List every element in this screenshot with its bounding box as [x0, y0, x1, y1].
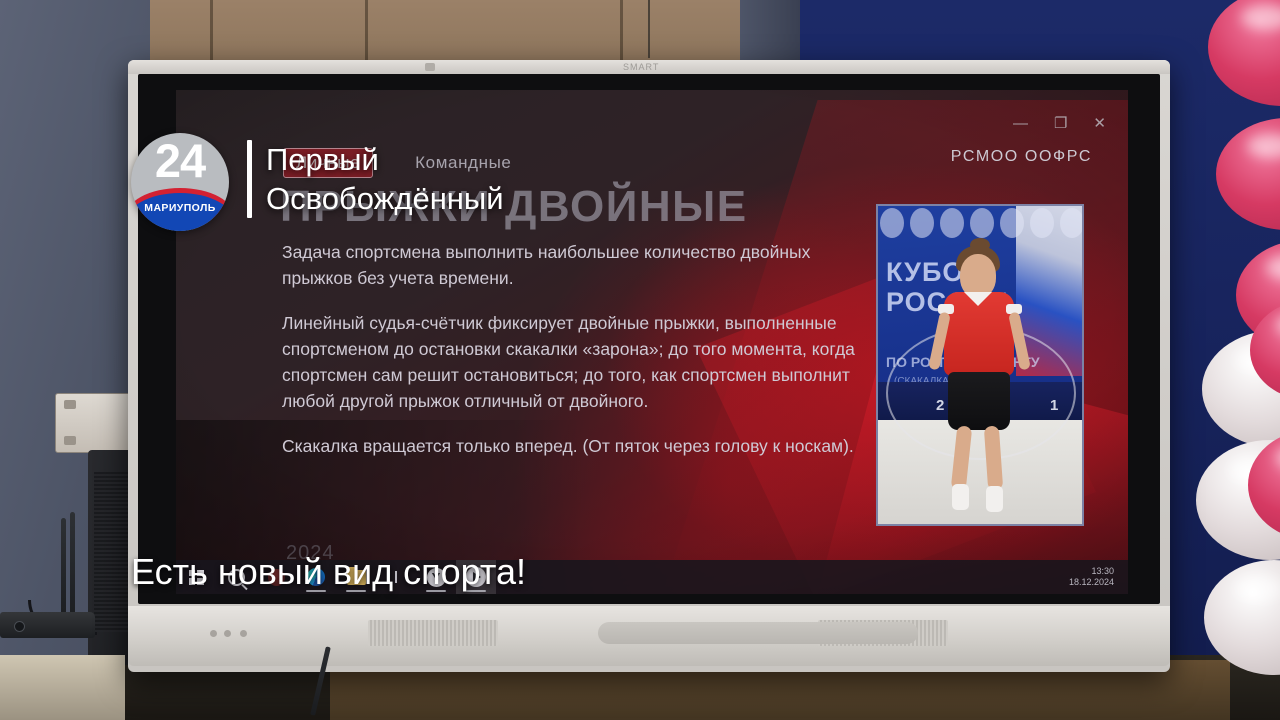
channel-number: 24 [131, 137, 229, 184]
headline-line-1: Первый [266, 140, 504, 179]
panel-top-bezel: SMART [128, 60, 1170, 74]
clock-date: 18.12.2024 [1069, 577, 1114, 588]
headline-accent-bar [247, 140, 252, 218]
channel-city: МАРИУПОЛЬ [131, 202, 229, 214]
taskbar-clock[interactable]: 13:30 18.12.2024 [1069, 566, 1114, 589]
broadcast-caption: Есть новый вид спорта! [131, 551, 526, 593]
router [0, 612, 95, 638]
panel-bottom-bezel: SMART [128, 606, 1170, 666]
slide-photo: КУБОК РОССИИ ПО РОУП-СКИППИНГУ (СКАКАЛКА… [876, 204, 1084, 526]
minimize-icon[interactable]: — [1013, 116, 1028, 131]
organization-label: РСМОО ООФРС [951, 148, 1092, 166]
window-controls: — ❐ ✕ [1013, 116, 1106, 131]
restore-icon[interactable]: ❐ [1054, 116, 1067, 131]
camera-icon [425, 63, 435, 71]
slide-body: Задача спортсмена выполнить наибольшее к… [282, 240, 872, 480]
mount-wire [648, 0, 650, 58]
news-headline-overlay: Первый Освобождённый [247, 140, 504, 218]
screenshot-root: SMART — ❐ ✕ [0, 0, 1280, 720]
headline-line-2: Освобождённый [266, 179, 504, 218]
clock-time: 13:30 [1069, 566, 1114, 577]
slide-paragraph: Задача спортсмена выполнить наибольшее к… [282, 240, 872, 291]
channel-logo: 24 МАРИУПОЛЬ [131, 133, 229, 231]
slide-paragraph: Скакалка вращается только вперед. (От пя… [282, 434, 872, 460]
storage-box [0, 655, 125, 720]
close-icon[interactable]: ✕ [1093, 116, 1106, 131]
headline-text: Первый Освобождённый [266, 140, 504, 218]
photo-athlete [930, 246, 1030, 486]
panel-brand-label: SMART [623, 62, 659, 72]
slide-paragraph: Линейный судья-счётчик фиксирует двойные… [282, 311, 872, 414]
photo-medal-row [880, 208, 1084, 238]
